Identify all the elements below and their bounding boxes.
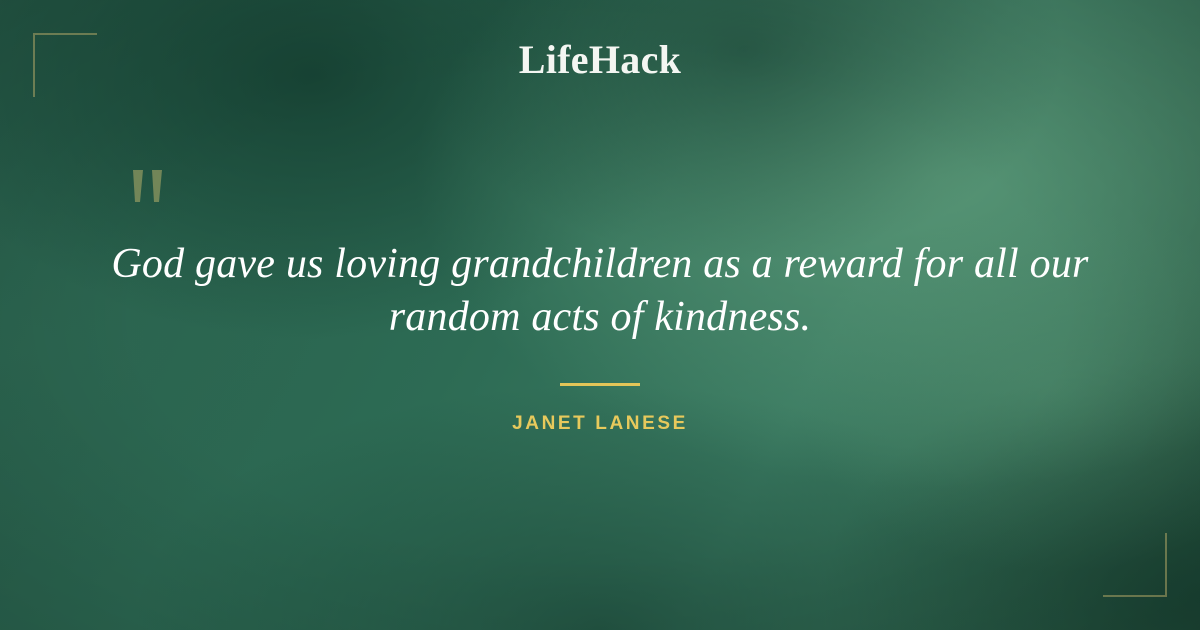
brand-logo: LifeHack <box>0 36 1200 83</box>
quote-card: LifeHack God gave us loving grandchildre… <box>0 0 1200 630</box>
author-divider <box>560 383 640 386</box>
quote-author: JANET LANESE <box>0 413 1200 435</box>
corner-bracket-bottom-right-icon <box>1103 533 1167 597</box>
quote-mark-icon <box>128 168 174 214</box>
quote-block: God gave us loving grandchildren as a re… <box>100 238 1100 344</box>
quote-line-1: God gave us loving grandchildren as a re… <box>100 238 1100 291</box>
quote-line-2: random acts of kindness. <box>100 291 1100 344</box>
